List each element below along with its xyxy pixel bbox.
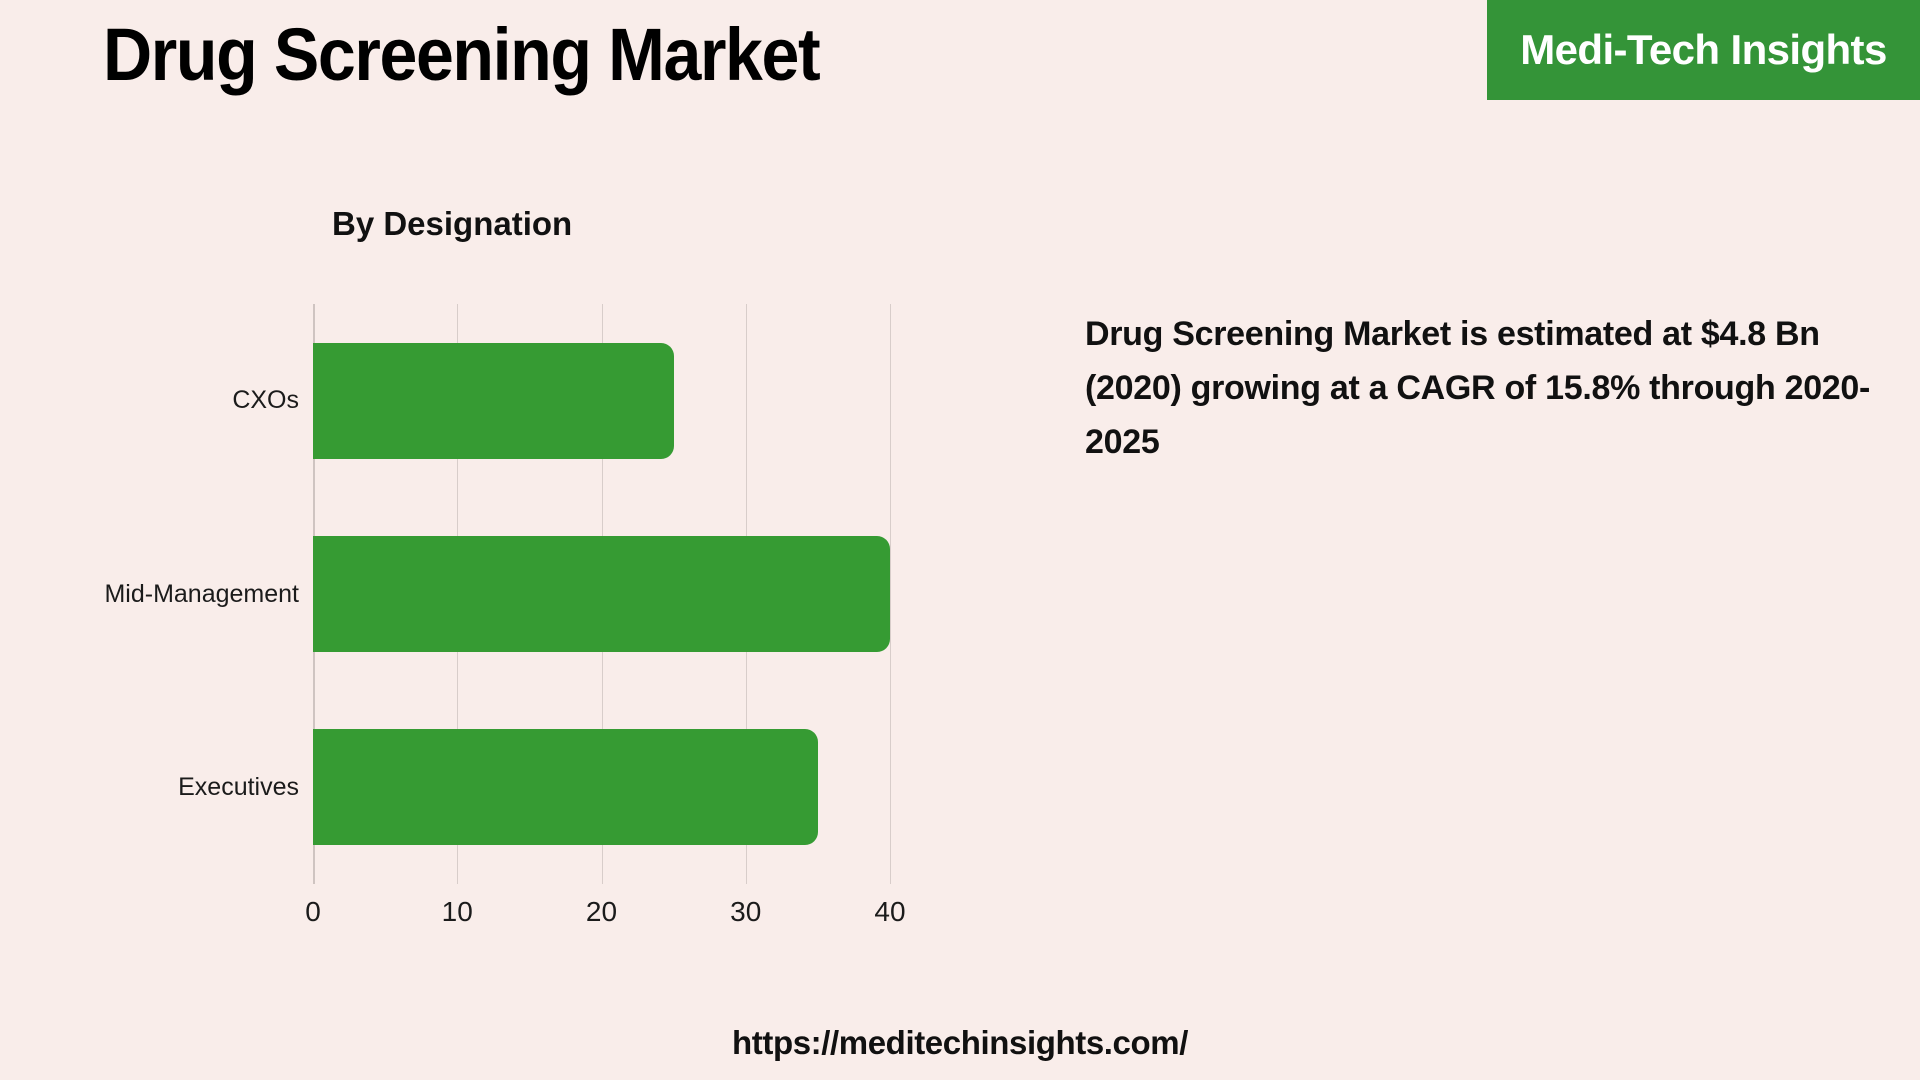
x-axis-tick-label: 40 (874, 896, 905, 928)
bar-row[interactable]: CXOs (313, 343, 890, 459)
bar[interactable] (313, 729, 818, 845)
bar[interactable] (313, 343, 674, 459)
plot-area: CXOsMid-ManagementExecutives010203040 (313, 304, 890, 884)
y-axis-tick-label: Executives (178, 773, 299, 802)
bar-row[interactable]: Mid-Management (313, 536, 890, 652)
x-axis-tick-label: 20 (586, 896, 617, 928)
brand-banner: Medi-Tech Insights (1487, 0, 1920, 100)
bar-row[interactable]: Executives (313, 729, 890, 845)
brand-logo-text: Medi-Tech Insights (1520, 26, 1886, 74)
footer-url[interactable]: https://meditechinsights.com/ (0, 1024, 1920, 1062)
page-title: Drug Screening Market (103, 12, 819, 97)
bar-chart: By Designation CXOsMid-ManagementExecuti… (0, 190, 980, 950)
y-axis-tick-label: Mid-Management (104, 580, 299, 609)
x-axis-tick-label: 0 (305, 896, 321, 928)
x-axis-tick-label: 30 (730, 896, 761, 928)
x-axis-tick-label: 10 (442, 896, 473, 928)
insight-callout: Drug Screening Market is estimated at $4… (1085, 307, 1895, 469)
gridline (890, 304, 891, 884)
bar[interactable] (313, 536, 890, 652)
chart-title: By Designation (332, 205, 572, 243)
y-axis-tick-label: CXOs (232, 386, 299, 415)
